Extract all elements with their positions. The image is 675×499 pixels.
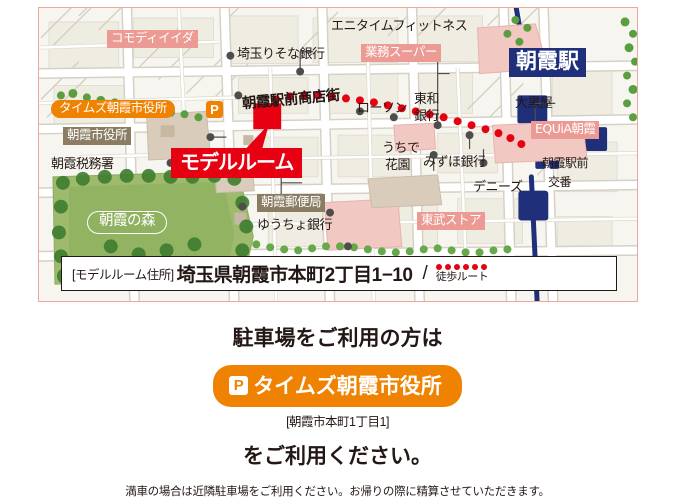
- parking-note: 満車の場合は近隣駐車場をご利用ください。お帰りの際に精算させていただきます。: [0, 483, 675, 499]
- map-label-asaka-cityhall: 朝霞市役所: [63, 127, 131, 145]
- map-label-equia-asaka: EQUiA朝霞: [531, 121, 599, 139]
- map-label-gyomu-super: 業務スーパー: [361, 44, 441, 62]
- parking-heading: 駐車場をご利用の方は: [0, 322, 675, 352]
- map-label-times-asaka-cityhall: タイムズ朝霞市役所: [51, 100, 175, 118]
- map-label-asaka-tax-office: 朝霞税務署: [51, 158, 114, 171]
- route-legend-dots: [436, 264, 487, 270]
- map-label-model-room: モデルルーム: [171, 148, 302, 178]
- times-parking-address: [朝霞市本町1丁目1]: [0, 411, 675, 430]
- address-prefix: [モデルルーム住所]: [72, 264, 174, 283]
- map-label-uchide-hanazono-line2: 花園: [385, 159, 410, 172]
- map-label-tobu-store: 東武ストア: [417, 212, 485, 230]
- map-label-uchide-hanazono-line1: うちで: [382, 142, 420, 155]
- map-label-koban-line1: 朝霞駅前: [542, 157, 588, 169]
- map-label-commodii-iida: コモディイイダ: [107, 30, 198, 48]
- map-label-saitama-resona-bank: 埼玉りそな銀行: [237, 48, 325, 61]
- map-label-dennys: デニーズ: [473, 181, 522, 194]
- location-map: コモディイイダ 埼玉りそな銀行 エニタイムフィットネス 業務スーパー 朝霞駅 大…: [38, 7, 638, 302]
- parking-p-icon: P: [229, 376, 248, 395]
- map-label-anytime-fitness: エニタイムフィットネス: [331, 20, 467, 33]
- map-label-mizuho-bank: みずほ銀行: [423, 156, 486, 169]
- route-legend: 徒歩ルート: [436, 264, 489, 283]
- parking-instructions: 駐車場をご利用の方は P タイムズ朝霞市役所 [朝霞市本町1丁目1] をご利用く…: [0, 310, 675, 499]
- address-separator: /: [422, 263, 427, 285]
- address-bar: [モデルルーム住所] 埼玉県朝霞市本町2丁目1−10 / 徒歩ルート: [61, 256, 617, 291]
- map-label-yucho-bank: ゆうちょ銀行: [257, 219, 332, 232]
- map-label-towa-bank-line1: 東和: [414, 93, 439, 106]
- route-legend-label: 徒歩ルート: [436, 272, 489, 283]
- map-label-koban-line2: 交番: [548, 176, 571, 188]
- map-label-towa-bank-line2: 銀行: [414, 110, 439, 123]
- map-label-asaka-station: 朝霞駅: [509, 48, 586, 77]
- map-label-daikokuya: 大黒屋: [515, 97, 553, 110]
- map-label-asaka-no-mori: 朝霞の森: [87, 211, 167, 234]
- map-label-asaka-post-office: 朝霞郵便局: [257, 194, 325, 212]
- times-parking-name: タイムズ朝霞市役所: [253, 370, 442, 400]
- parking-marker-icon: P: [206, 101, 223, 118]
- map-label-lawson: ローソン: [357, 102, 407, 115]
- address-value: 埼玉県朝霞市本町2丁目1−10: [177, 260, 413, 287]
- times-parking-badge: P タイムズ朝霞市役所: [213, 365, 462, 407]
- parking-heading-second: をご利用ください。: [0, 440, 675, 470]
